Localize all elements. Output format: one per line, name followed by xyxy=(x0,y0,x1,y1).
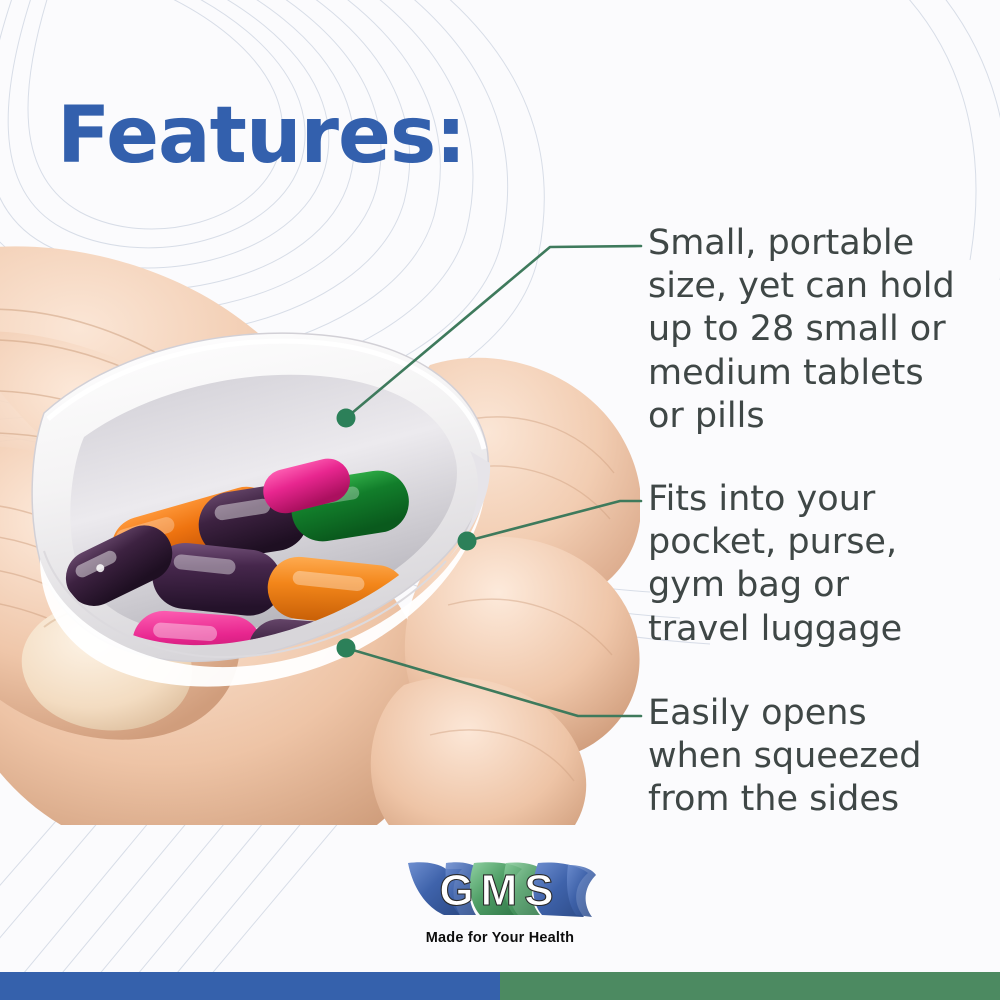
feature-line: Small, portable xyxy=(648,222,978,265)
feature-text-easy-open: Easily opens when squeezed from the side… xyxy=(648,692,978,822)
infographic-canvas: Features: xyxy=(0,0,1000,1000)
feature-line: from the sides xyxy=(648,778,978,821)
bottom-color-bar xyxy=(0,972,1000,1000)
feature-line: size, yet can hold xyxy=(648,265,978,308)
feature-line: pocket, purse, xyxy=(648,521,978,564)
bottom-bar-green-segment xyxy=(500,972,1000,1000)
brand-logo: GMS Made for Your Health xyxy=(402,853,598,951)
feature-line: medium tablets xyxy=(648,352,978,395)
feature-line: when squeezed xyxy=(648,735,978,778)
feature-line: or pills xyxy=(648,395,978,438)
gms-logo-mark: GMS xyxy=(402,853,598,923)
feature-line: travel luggage xyxy=(648,608,978,651)
feature-line: gym bag or xyxy=(648,564,978,607)
bottom-bar-blue-segment xyxy=(0,972,500,1000)
feature-line: Easily opens xyxy=(648,692,978,735)
feature-line: Fits into your xyxy=(648,478,978,521)
logo-letters: GMS xyxy=(439,866,560,915)
feature-text-capacity: Small, portable size, yet can hold up to… xyxy=(648,222,978,438)
feature-text-portability: Fits into your pocket, purse, gym bag or… xyxy=(648,478,978,651)
feature-line: up to 28 small or xyxy=(648,308,978,351)
page-title: Features: xyxy=(57,97,465,175)
logo-tagline: Made for Your Health xyxy=(402,930,598,946)
product-photo xyxy=(0,215,640,825)
